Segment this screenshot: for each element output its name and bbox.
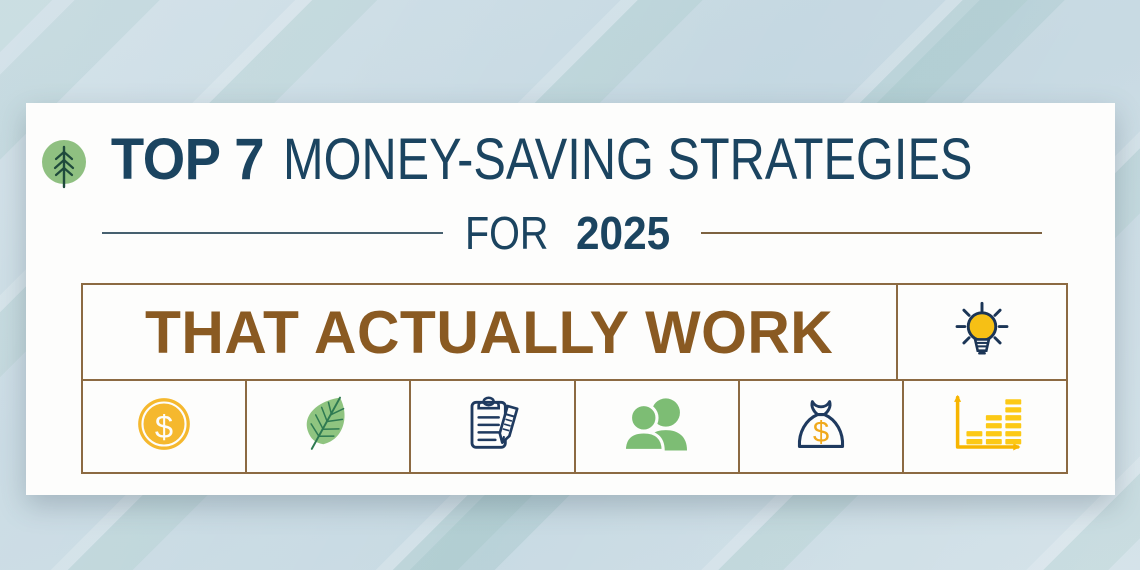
- title-light: MONEY-SAVING STRATEGIES: [283, 131, 972, 189]
- icon-cell-leaf: [247, 381, 411, 472]
- poster-card: TOP 7MONEY-SAVING STRATEGIES FOR2025 THA…: [26, 103, 1115, 495]
- tagline-cell: THAT ACTUALLY WORK: [83, 285, 898, 379]
- subtitle-light: FOR: [465, 210, 549, 256]
- rule-right: [701, 232, 1042, 234]
- svg-text:$: $: [813, 417, 829, 449]
- clipboard-pen-icon: [462, 394, 522, 459]
- coin-dollar-icon: $: [133, 393, 195, 460]
- headline-row: TOP 7MONEY-SAVING STRATEGIES: [26, 120, 1115, 204]
- title-strong: TOP 7: [110, 131, 263, 189]
- subtitle: FOR2025: [465, 210, 678, 256]
- bar-chart-icon: [947, 392, 1023, 461]
- icon-cell-coin: $: [83, 381, 247, 472]
- subtitle-strong: 2025: [576, 210, 670, 256]
- table-row-tagline: THAT ACTUALLY WORK: [83, 285, 1066, 381]
- money-bag-icon: $: [790, 393, 852, 460]
- table-row-icons: $: [83, 381, 1066, 472]
- icon-cell-people: [576, 381, 740, 472]
- icon-table: THAT ACTUALLY WORK: [81, 283, 1068, 474]
- leaf-icon: [292, 392, 364, 461]
- icon-cell-clipboard: [411, 381, 575, 472]
- lightbulb-icon: [951, 299, 1013, 366]
- tagline-text: THAT ACTUALLY WORK: [145, 303, 833, 363]
- poster-root: TOP 7MONEY-SAVING STRATEGIES FOR2025 THA…: [0, 0, 1140, 570]
- page-title: TOP 7MONEY-SAVING STRATEGIES: [106, 131, 1104, 189]
- icon-cell-money-bag: $: [740, 381, 904, 472]
- svg-text:$: $: [155, 408, 173, 445]
- rule-left: [102, 232, 443, 234]
- lightbulb-cell: [898, 285, 1066, 379]
- icon-cell-bar-chart: [904, 381, 1066, 472]
- tree-icon: [38, 138, 90, 190]
- subtitle-row: FOR2025: [102, 207, 1042, 259]
- people-icon: [619, 394, 695, 459]
